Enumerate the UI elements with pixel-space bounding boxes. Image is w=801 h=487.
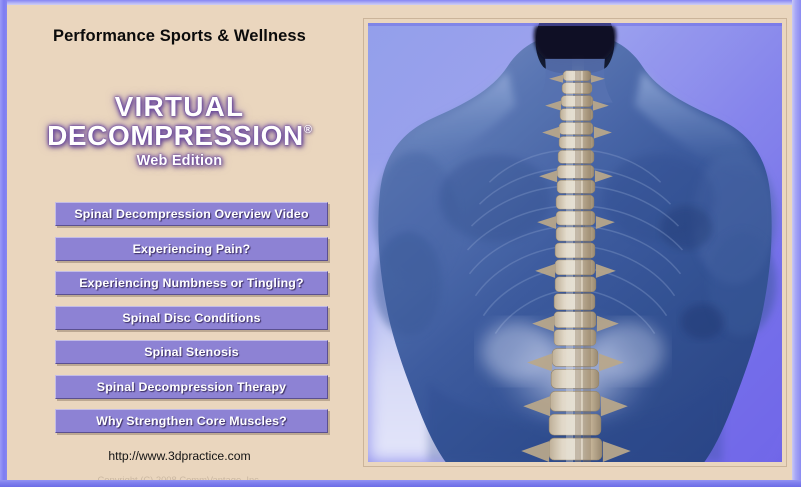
window-frame-left-edge <box>0 0 7 487</box>
website-url-link[interactable]: http://www.3dpractice.com <box>7 449 352 463</box>
product-title-line-2: DECOMPRESSION <box>47 122 304 151</box>
practice-name-heading: Performance Sports & Wellness <box>7 27 352 46</box>
product-title-line-2-wrap: DECOMPRESSION® <box>7 122 352 151</box>
window-frame-right-edge <box>792 0 801 487</box>
window-frame-bottom-edge <box>0 480 801 487</box>
menu-button-overview-video[interactable]: Spinal Decompression Overview Video <box>55 202 328 226</box>
registered-trademark-mark: ® <box>304 124 312 136</box>
product-title-subtitle: Web Edition <box>7 154 352 169</box>
product-title-block: VIRTUAL DECOMPRESSION® Web Edition <box>7 93 352 169</box>
left-content-column: Performance Sports & Wellness VIRTUAL DE… <box>7 5 359 480</box>
copyright-notice: Copyright (C) 2008 CommVantage, Inc. <box>7 474 352 480</box>
menu-button-core-muscles[interactable]: Why Strengthen Core Muscles? <box>55 409 328 433</box>
menu-button-spinal-stenosis[interactable]: Spinal Stenosis <box>55 340 328 364</box>
application-window: Performance Sports & Wellness VIRTUAL DE… <box>0 0 801 487</box>
menu-button-spinal-disc-conditions[interactable]: Spinal Disc Conditions <box>55 306 328 330</box>
product-title-line-1: VIRTUAL <box>7 93 352 122</box>
main-menu-list: Spinal Decompression Overview Video Expe… <box>55 202 328 444</box>
menu-button-numbness-tingling[interactable]: Experiencing Numbness or Tingling? <box>55 271 328 295</box>
page-canvas: Performance Sports & Wellness VIRTUAL DE… <box>7 5 792 480</box>
menu-button-experiencing-pain[interactable]: Experiencing Pain? <box>55 237 328 261</box>
menu-button-decompression-therapy[interactable]: Spinal Decompression Therapy <box>55 375 328 399</box>
photo-frame <box>363 18 787 467</box>
photo-inner <box>368 23 782 462</box>
spine-anatomy-photo <box>368 23 782 462</box>
